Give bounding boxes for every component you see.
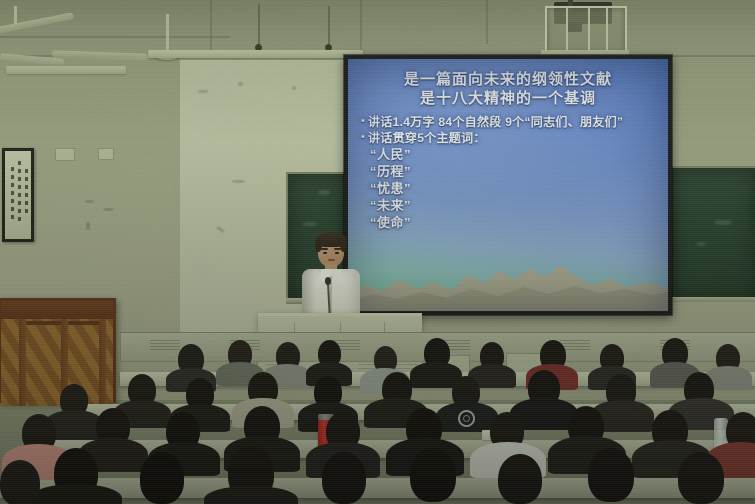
microphone-head bbox=[325, 277, 331, 285]
wall-switch-plate bbox=[98, 148, 114, 160]
ceiling-beam-line bbox=[210, 0, 212, 56]
chalk-smudge bbox=[696, 242, 706, 246]
audience-head bbox=[588, 448, 634, 502]
bullet-marker-icon: • bbox=[358, 130, 368, 146]
slide-surface: 是一篇面向未来的纲领性文献 是十八大精神的一个基调 • 讲话1.4万字 84个自… bbox=[348, 59, 668, 311]
audience-head bbox=[0, 460, 40, 504]
projector-security-cage bbox=[545, 6, 627, 56]
wall-switch-plate bbox=[55, 148, 75, 161]
audience-shoulders bbox=[204, 486, 298, 504]
slide-bullet: • 讲话1.4万字 84个自然段 9个“同志们、朋友们” bbox=[358, 114, 668, 130]
bullet-text: 讲话1.4万字 84个自然段 9个“同志们、朋友们” bbox=[368, 114, 668, 130]
speaker-eye bbox=[323, 252, 327, 254]
wall-scuff bbox=[198, 90, 208, 93]
audience-head bbox=[678, 452, 724, 504]
hoodie-logo-icon bbox=[458, 410, 475, 427]
blackboard-right bbox=[668, 166, 755, 302]
door-ledge bbox=[21, 321, 99, 325]
fluorescent-light bbox=[148, 50, 363, 58]
speaker-eye bbox=[335, 252, 339, 254]
wall-fixture-dot bbox=[85, 200, 94, 203]
wall-fixture-dot bbox=[103, 208, 114, 211]
audience-head bbox=[498, 454, 542, 504]
bullet-marker-icon: • bbox=[358, 114, 368, 130]
slide-content: 是一篇面向未来的纲领性文献 是十八大精神的一个基调 • 讲话1.4万字 84个自… bbox=[348, 59, 668, 311]
speaker-brow bbox=[321, 248, 328, 250]
door-stile bbox=[19, 319, 26, 406]
slide-title: 是一篇面向未来的纲领性文献 是十八大精神的一个基调 bbox=[348, 59, 668, 108]
calligraphy-paper bbox=[5, 151, 31, 239]
audience-head bbox=[140, 452, 184, 504]
slide-theme-word-list: “人民” “历程” “忧患” “未来” “使命” bbox=[348, 146, 668, 231]
fan-rod bbox=[14, 6, 17, 24]
calligraphy-column bbox=[11, 167, 14, 219]
ceiling-beam-line bbox=[0, 36, 230, 38]
framed-calligraphy bbox=[2, 148, 34, 242]
cage-bar bbox=[588, 8, 590, 52]
chalk-smudge bbox=[318, 190, 330, 195]
chalk-smudge bbox=[714, 220, 732, 225]
speaker-hair-side bbox=[340, 238, 347, 252]
ceiling-beam-line bbox=[486, 0, 488, 44]
cage-bar bbox=[606, 8, 608, 52]
rear-panel-vent bbox=[150, 340, 180, 352]
calligraphy-column bbox=[18, 161, 21, 225]
theme-word: “未来” bbox=[348, 197, 668, 214]
bullet-text: 讲话贯穿5个主题词： bbox=[368, 130, 668, 146]
light-hanger bbox=[328, 6, 330, 46]
door-slats bbox=[1, 319, 113, 406]
audience-head bbox=[322, 452, 366, 504]
theme-word: “使命” bbox=[348, 214, 668, 231]
theme-word: “历程” bbox=[348, 163, 668, 180]
cage-bar bbox=[566, 8, 568, 52]
speaker-brow bbox=[334, 248, 341, 250]
light-hanger bbox=[258, 4, 260, 46]
wall-scuff bbox=[232, 180, 245, 183]
audience-head bbox=[410, 448, 456, 502]
theme-word: “人民” bbox=[348, 146, 668, 163]
slide-bullet: • 讲话贯穿5个主题词： bbox=[358, 130, 668, 146]
chalk-rail-right bbox=[666, 297, 755, 302]
fan-rod bbox=[166, 14, 169, 52]
chalk-smudge bbox=[302, 222, 318, 226]
fluorescent-light bbox=[6, 66, 126, 74]
audience-shoulders bbox=[30, 484, 122, 504]
ceiling-beam-line bbox=[360, 0, 362, 50]
slide-title-line2: 是十八大精神的一个基调 bbox=[348, 89, 668, 108]
door-stile bbox=[99, 319, 106, 406]
wall-scuff bbox=[216, 226, 225, 234]
wooden-door[interactable] bbox=[0, 298, 116, 403]
door-header bbox=[1, 301, 113, 319]
theme-word: “忧患” bbox=[348, 180, 668, 197]
lecture-hall-photo: 是一篇面向未来的纲领性文献 是十八大精神的一个基调 • 讲话1.4万字 84个自… bbox=[0, 0, 755, 504]
ceiling bbox=[0, 0, 755, 58]
speaker-mouth bbox=[328, 259, 335, 261]
slide-title-line1: 是一篇面向未来的纲领性文献 bbox=[348, 70, 668, 89]
calligraphy-column bbox=[25, 169, 28, 213]
slide-bullet-list: • 讲话1.4万字 84个自然段 9个“同志们、朋友们” • 讲话贯穿5个主题词… bbox=[348, 114, 668, 146]
projection-screen: 是一篇面向未来的纲领性文献 是十八大精神的一个基调 • 讲话1.4万字 84个自… bbox=[344, 55, 672, 315]
wall-scuff bbox=[292, 86, 296, 90]
wall-scuff bbox=[238, 82, 243, 86]
wall-fixture-dot bbox=[86, 222, 90, 230]
